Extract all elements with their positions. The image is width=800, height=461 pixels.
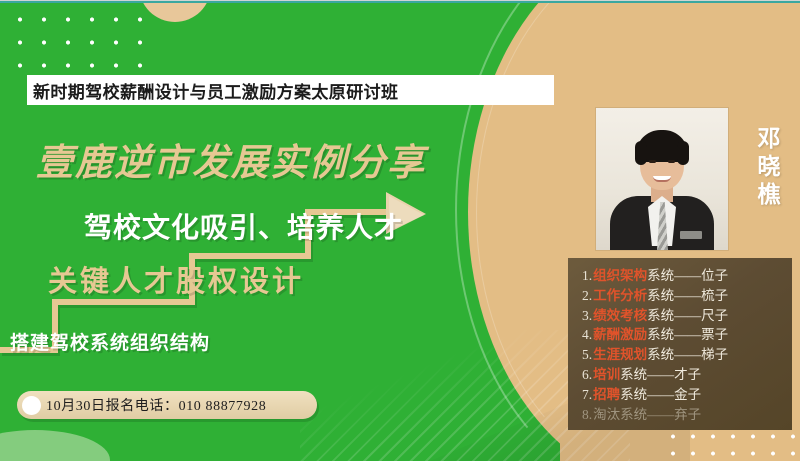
promo-poster: 新时期驾校薪酬设计与员工激励方案太原研讨班 壹鹿逆市发展实例分享 驾校文化吸引、…: [0, 0, 800, 461]
list-item-keyword: 工作分析: [593, 286, 647, 306]
list-item: 1. 组织架构 系统——位子: [568, 266, 792, 286]
list-item-number: 4.: [582, 325, 592, 345]
list-item-number: 8.: [582, 405, 592, 425]
list-item-number: 6.: [582, 365, 592, 385]
list-item-number: 7.: [582, 385, 592, 405]
step-label-1: 驾校文化吸引、培养人才: [84, 206, 403, 246]
top-edge-line: [0, 0, 800, 1]
list-item-keyword: 生涯规划: [593, 345, 647, 365]
seminar-title-text: 新时期驾校薪酬设计与员工激励方案太原研讨班: [33, 78, 398, 103]
photo-hair-right: [677, 141, 689, 165]
list-item: 7. 招聘 系统——金子: [568, 385, 792, 405]
dot-grid-top-left: [4, 4, 156, 76]
photo-name-badge: [680, 231, 702, 239]
list-item-rest: 系统——位子: [647, 266, 728, 286]
list-item: 5. 生涯规划 系统——梯子: [568, 345, 792, 365]
list-item-keyword: 培训: [593, 365, 620, 385]
speaker-photo: [596, 108, 728, 250]
list-item-rest: 系统——弃子: [620, 405, 701, 425]
list-item-keyword: 招聘: [593, 385, 620, 405]
list-item: 6. 培训 系统——才子: [568, 365, 792, 385]
list-item-keyword: 薪酬激励: [593, 325, 647, 345]
main-headline: 壹鹿逆市发展实例分享: [36, 132, 426, 186]
step-label-2: 关键人才股权设计: [48, 258, 304, 300]
list-item-rest: 系统——金子: [620, 385, 701, 405]
dot-grid-bottom-right: [660, 425, 800, 461]
step-label-3: 搭建驾校系统组织结构: [10, 328, 210, 355]
speaker-name: 邓晓樵: [752, 124, 786, 208]
list-item-rest: 系统——才子: [620, 365, 701, 385]
list-item: 8. 淘汰 系统——弃子: [568, 405, 792, 425]
bullet-dot-icon: [22, 396, 41, 415]
list-item-number: 2.: [582, 286, 592, 306]
list-item-rest: 系统——梯子: [647, 345, 728, 365]
list-item-rest: 系统——票子: [647, 325, 728, 345]
system-list-panel: 1. 组织架构 系统——位子 2. 工作分析 系统——梳子 3. 绩效考核 系统…: [568, 258, 792, 430]
list-item-number: 1.: [582, 266, 592, 286]
list-item: 2. 工作分析 系统——梳子: [568, 286, 792, 306]
seminar-title-bar: 新时期驾校薪酬设计与员工激励方案太原研讨班: [27, 75, 554, 105]
list-item-keyword: 组织架构: [593, 266, 647, 286]
photo-eye-left: [649, 160, 656, 163]
list-item-rest: 系统——梳子: [647, 286, 728, 306]
registration-text: 10月30日报名电话：010 88877928: [46, 395, 266, 415]
list-item-keyword: 淘汰: [593, 405, 620, 425]
list-item-number: 3.: [582, 306, 592, 326]
list-item-rest: 系统——尺子: [647, 306, 728, 326]
list-item: 3. 绩效考核 系统——尺子: [568, 306, 792, 326]
registration-banner[interactable]: 10月30日报名电话：010 88877928: [17, 391, 317, 419]
photo-hair-left: [635, 141, 647, 165]
list-item: 4. 薪酬激励 系统——票子: [568, 325, 792, 345]
list-item-number: 5.: [582, 345, 592, 365]
list-item-keyword: 绩效考核: [593, 306, 647, 326]
photo-eye-right: [668, 160, 675, 163]
